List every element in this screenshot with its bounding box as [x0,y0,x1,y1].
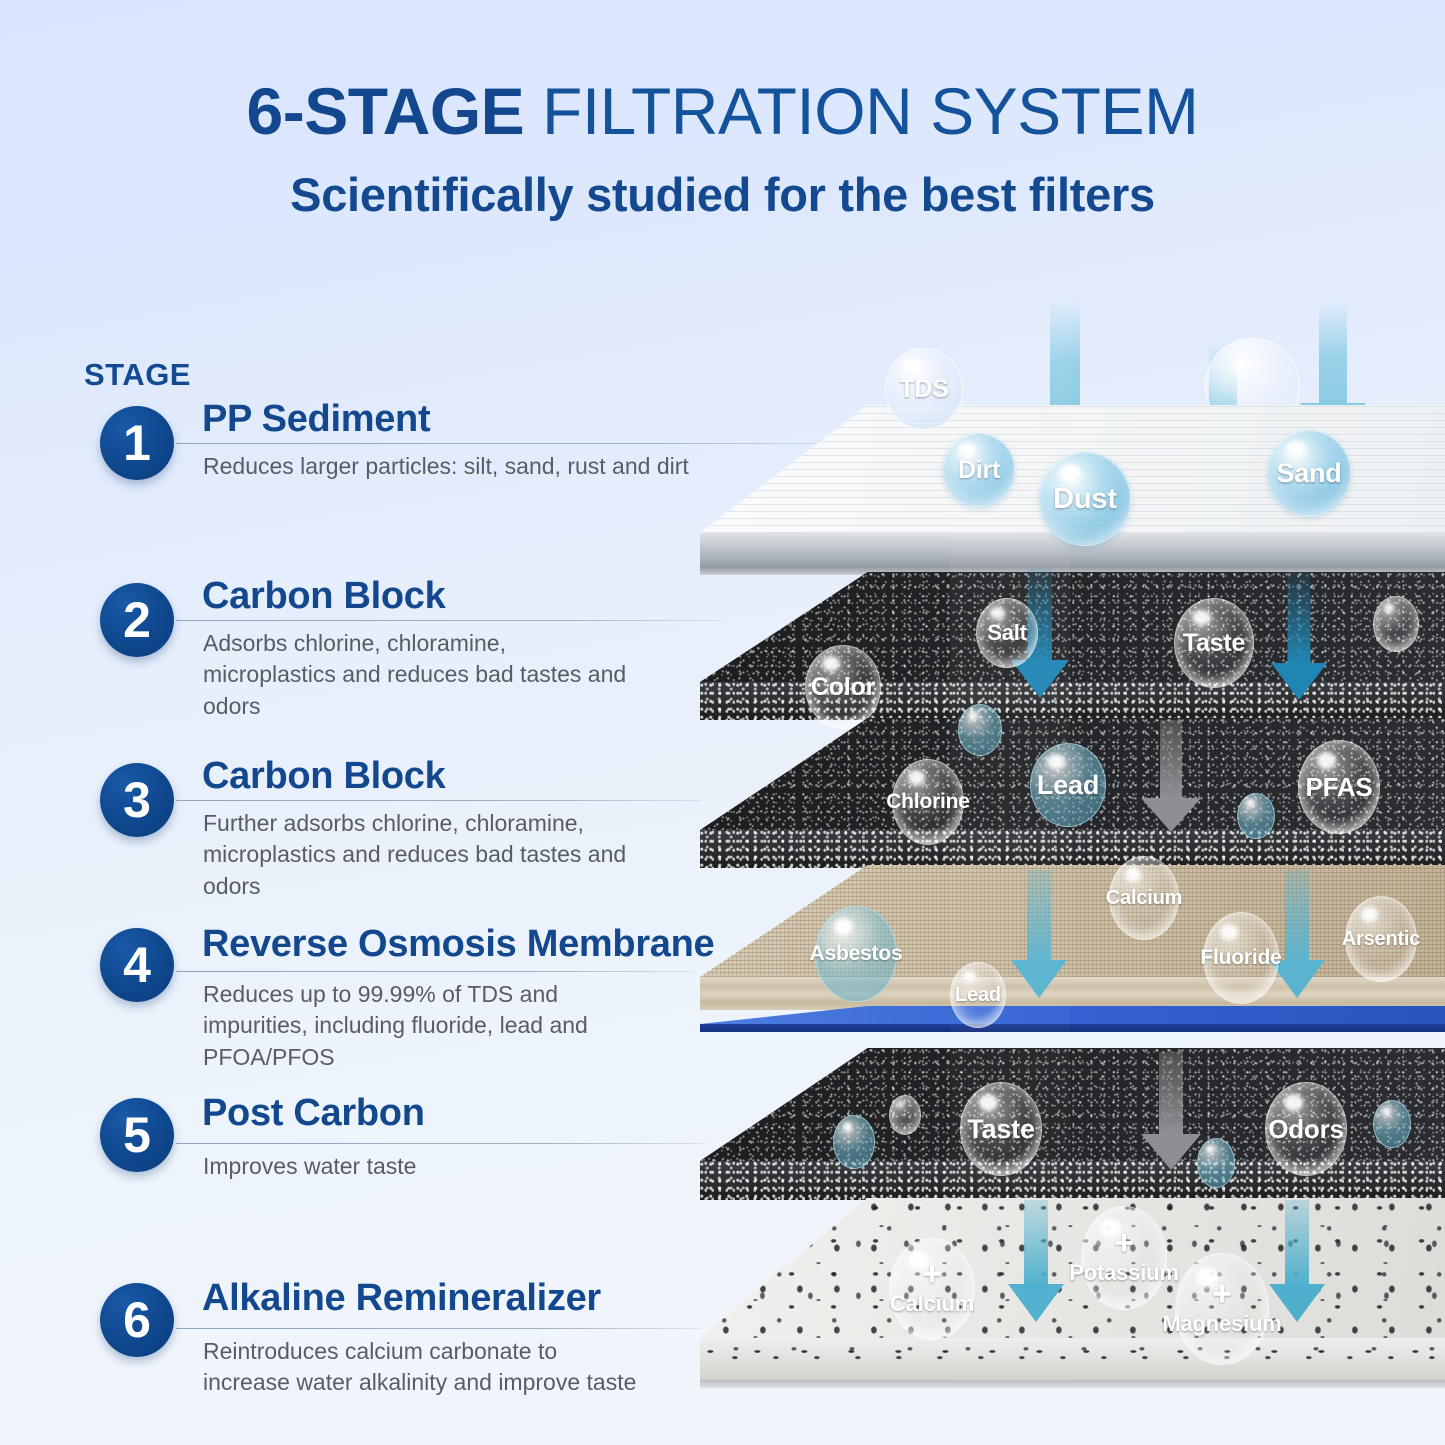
bubble-small-layer5-a [833,1115,875,1169]
bubble-small-layer5-d [1373,1100,1411,1148]
stage-badge-3: 3 [100,763,174,837]
alkaline-slab [700,1198,1445,1388]
stage-badge-4: 4 [100,928,174,1002]
bubble-small-layer3-b [1237,793,1275,839]
stage-title-1: PP Sediment [202,398,430,441]
bubble-color: Color [805,645,881,729]
bubble-small-layer5-c [1197,1138,1235,1188]
stage-column-label: STAGE [84,357,191,393]
stage-rule-2 [176,620,721,621]
stage-rule-5 [176,1143,706,1144]
bubble-pfas: PFAS [1298,740,1380,834]
bubble-potassium: + Potassium [1081,1206,1167,1310]
page-title-emphasis: 6-STAGE [247,74,525,148]
stage-rule-6 [176,1328,701,1329]
carbon-block-2-side [700,830,1445,868]
infographic-canvas: 6-STAGE FILTRATION SYSTEM Scientifically… [0,0,1445,1445]
stage-title-4: Reverse Osmosis Membrane [202,923,714,966]
stage-badge-5: 5 [100,1098,174,1172]
ro-membrane-slab [700,865,1445,1015]
stage-title-3: Carbon Block [202,755,445,798]
bubble-sand: Sand [1267,430,1351,516]
page-title-rest: FILTRATION SYSTEM [524,74,1198,148]
bubble-fluoride: Fluoride [1203,912,1279,1004]
stage-desc-4: Reduces up to 99.99% of TDS and impuriti… [203,979,623,1073]
bubble-calcium-layer4: Calcium [1109,856,1179,940]
stage-desc-6: Reintroduces calcium carbonate to increa… [203,1336,643,1399]
bubble-small-layer2 [1373,596,1419,652]
blue-base-slab [700,1006,1445,1034]
filter-stack-illustration: TDS Dirt Dust Sand Color Salt Taste [700,300,1445,1420]
stage-desc-5: Improves water taste [203,1151,633,1182]
stage-title-2: Carbon Block [202,575,445,618]
stage-desc-3: Further adsorbs chlorine, chloramine, mi… [203,808,653,902]
post-carbon-side [700,1161,1445,1200]
flow-arrow-layer6-b [1268,1200,1326,1322]
stage-badge-6: 6 [100,1283,174,1357]
blue-base-face [700,1006,1445,1024]
bubble-arsentic: Arsentic [1345,896,1417,982]
ion-plus-icon: + [922,1261,942,1288]
flow-arrow-layer5 [1140,1052,1202,1170]
stage-rule-4 [176,971,694,972]
stage-desc-2: Adsorbs chlorine, chloramine, microplast… [203,628,633,722]
header: 6-STAGE FILTRATION SYSTEM Scientifically… [0,78,1445,222]
alkaline-side [700,1338,1445,1380]
flow-arrow-layer3 [1140,720,1202,832]
bubble-asbestos: Asbestos [815,906,897,1002]
bubble-taste-layer2: Taste [1174,598,1254,688]
bubble-magnesium: + Magnesium [1175,1253,1269,1365]
stage-title-5: Post Carbon [202,1092,425,1135]
stage-badge-1: 1 [100,406,174,480]
bubble-odors: Odors [1265,1082,1347,1176]
page-title: 6-STAGE FILTRATION SYSTEM [0,78,1445,145]
stage-badge-2: 2 [100,583,174,657]
stage-rule-3 [176,800,701,801]
bubble-small-layer5-b [889,1095,921,1135]
ion-plus-icon: + [1114,1230,1134,1257]
ion-plus-icon: + [1212,1281,1232,1308]
blue-base-side [700,1024,1445,1032]
stack-light-sheen [950,300,1070,1390]
flow-arrow-layer2-b [1270,572,1328,700]
flow-arrow-layer4-b [1268,870,1326,998]
stage-title-6: Alkaline Remineralizer [202,1277,601,1320]
page-subtitle: Scientifically studied for the best filt… [0,167,1445,222]
